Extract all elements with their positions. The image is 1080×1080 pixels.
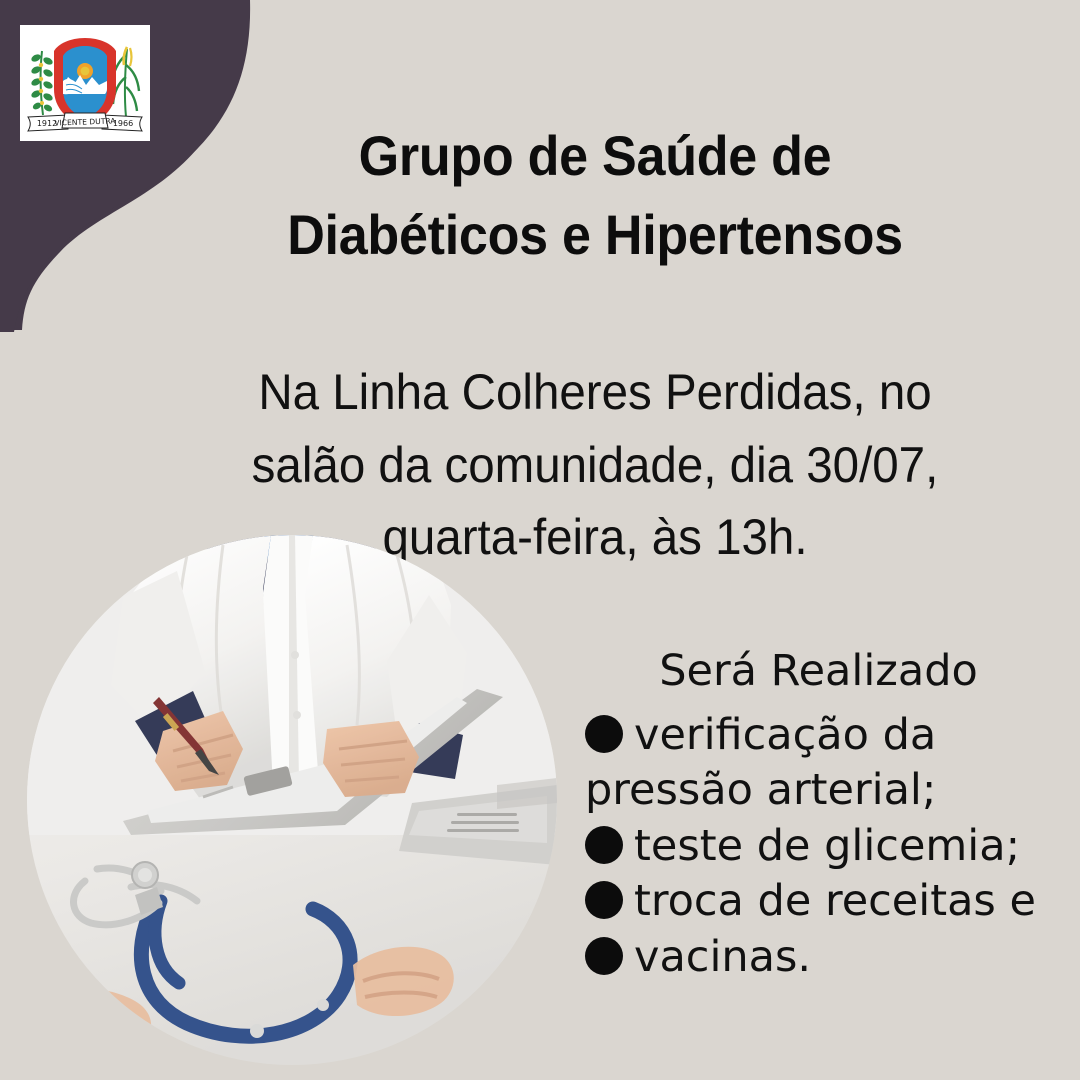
bullet-icon [585, 715, 623, 753]
health-announcement-poster: 1912 VICENTE DUTRA 1966 Grupo de Saúde d… [0, 0, 1080, 1080]
headline-line-1: Grupo de Saúde de [228, 116, 963, 196]
municipal-coat-of-arms: 1912 VICENTE DUTRA 1966 [20, 25, 150, 141]
headline-line-2: Diabéticos e Hipertensos [228, 195, 963, 275]
service-label: teste de glicemia; [634, 821, 1020, 871]
service-label: verificação da pressão arterial; [585, 710, 936, 815]
service-list-item: troca de receitas e [585, 874, 1070, 929]
crest-year-right: 1966 [113, 119, 133, 128]
ribbon-banner: 1912 VICENTE DUTRA 1966 [28, 113, 142, 131]
service-label: troca de receitas e [634, 876, 1036, 926]
service-list-item: vacinas. [585, 930, 1070, 985]
doctor-consultation-photo [27, 535, 557, 1065]
services-heading: Será Realizado [585, 648, 1070, 694]
intro-line-1: Na Linha Colheres Perdidas, no [206, 356, 985, 429]
services-section: Será Realizado verificação da pressão ar… [585, 648, 1070, 985]
bullet-icon [585, 826, 623, 864]
service-list-item: verificação da pressão arterial; [585, 708, 1070, 817]
intro-line-2: salão da comunidade, dia 30/07, [206, 429, 985, 502]
bullet-icon [585, 937, 623, 975]
service-list-item: teste de glicemia; [585, 819, 1070, 874]
poster-headline: Grupo de Saúde de Diabéticos e Hipertens… [228, 116, 963, 275]
service-label: vacinas. [634, 932, 811, 982]
bullet-icon [585, 881, 623, 919]
